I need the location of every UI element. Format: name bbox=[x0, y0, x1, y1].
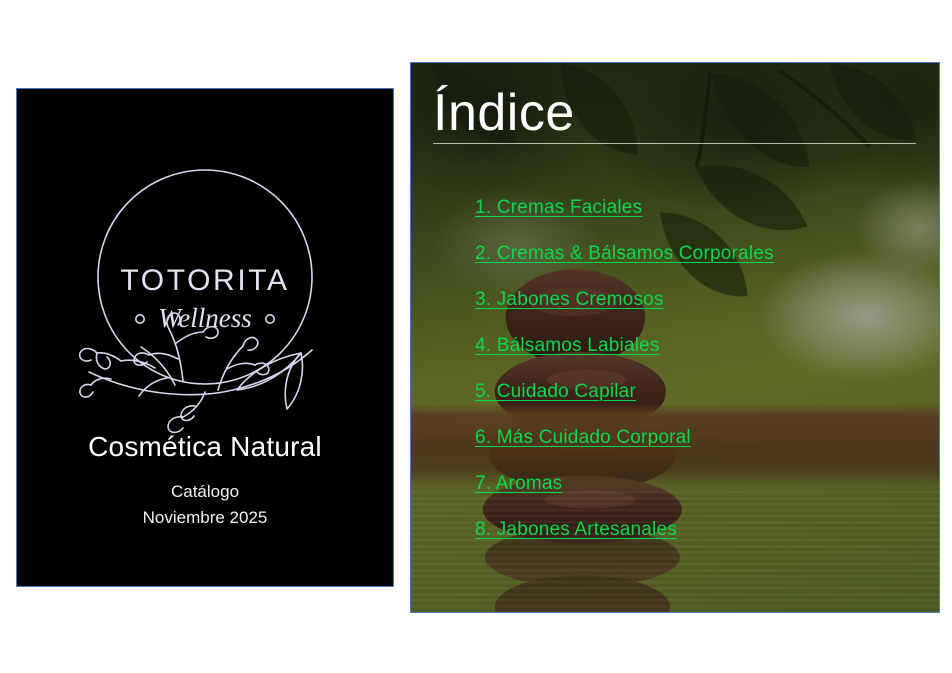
logo-brand-text: TOTORITA bbox=[120, 264, 289, 297]
cover-date: Noviembre 2025 bbox=[17, 505, 393, 531]
bud-icon bbox=[243, 338, 258, 351]
index-link-1[interactable]: 1. Cremas Faciales bbox=[475, 197, 642, 218]
list-item: 1. Cremas Faciales bbox=[475, 197, 929, 219]
index-title: Índice bbox=[433, 87, 923, 139]
list-item: 4. Bálsamos Labiales bbox=[475, 335, 929, 357]
index-link-7[interactable]: 7. Aromas bbox=[475, 473, 562, 494]
list-item: 6. Más Cuidado Corporal bbox=[475, 427, 929, 449]
catalog-cover-card: TOTORITA Wellness bbox=[16, 88, 394, 587]
list-item: 5. Cuidado Capilar bbox=[475, 381, 929, 403]
index-link-list: 1. Cremas Faciales 2. Cremas & Bálsamos … bbox=[475, 197, 929, 541]
index-link-6[interactable]: 6. Más Cuidado Corporal bbox=[475, 427, 691, 448]
logo-script-text: Wellness bbox=[158, 303, 252, 333]
index-header: Índice bbox=[433, 87, 923, 144]
leaf-icon bbox=[285, 353, 302, 409]
bud-icon bbox=[80, 349, 97, 362]
totorita-wellness-logo: TOTORITA Wellness bbox=[55, 147, 355, 447]
index-link-3[interactable]: 3. Jabones Cremosos bbox=[475, 289, 664, 310]
page-title: Cosmética Natural bbox=[17, 429, 393, 465]
bud-icon bbox=[255, 363, 269, 374]
index-link-8[interactable]: 8. Jabones Artesanales bbox=[475, 519, 677, 540]
index-link-4[interactable]: 4. Bálsamos Labiales bbox=[475, 335, 660, 356]
index-link-2[interactable]: 2. Cremas & Bálsamos Corporales bbox=[475, 243, 774, 264]
index-link-5[interactable]: 5. Cuidado Capilar bbox=[475, 381, 636, 402]
list-item: 7. Aromas bbox=[475, 473, 929, 495]
bud-icon bbox=[136, 315, 144, 323]
bud-icon bbox=[96, 353, 110, 369]
list-item: 8. Jabones Artesanales bbox=[475, 519, 929, 541]
bud-icon bbox=[266, 315, 274, 323]
list-item: 3. Jabones Cremosos bbox=[475, 289, 929, 311]
index-slide: Índice 1. Cremas Faciales 2. Cremas & Bá… bbox=[410, 62, 940, 613]
header-divider bbox=[433, 143, 916, 144]
cover-subtitle: Catálogo bbox=[17, 479, 393, 505]
bud-icon bbox=[80, 384, 93, 397]
list-item: 2. Cremas & Bálsamos Corporales bbox=[475, 243, 929, 265]
cover-text-block: Cosmética Natural Catálogo Noviembre 202… bbox=[17, 429, 393, 532]
